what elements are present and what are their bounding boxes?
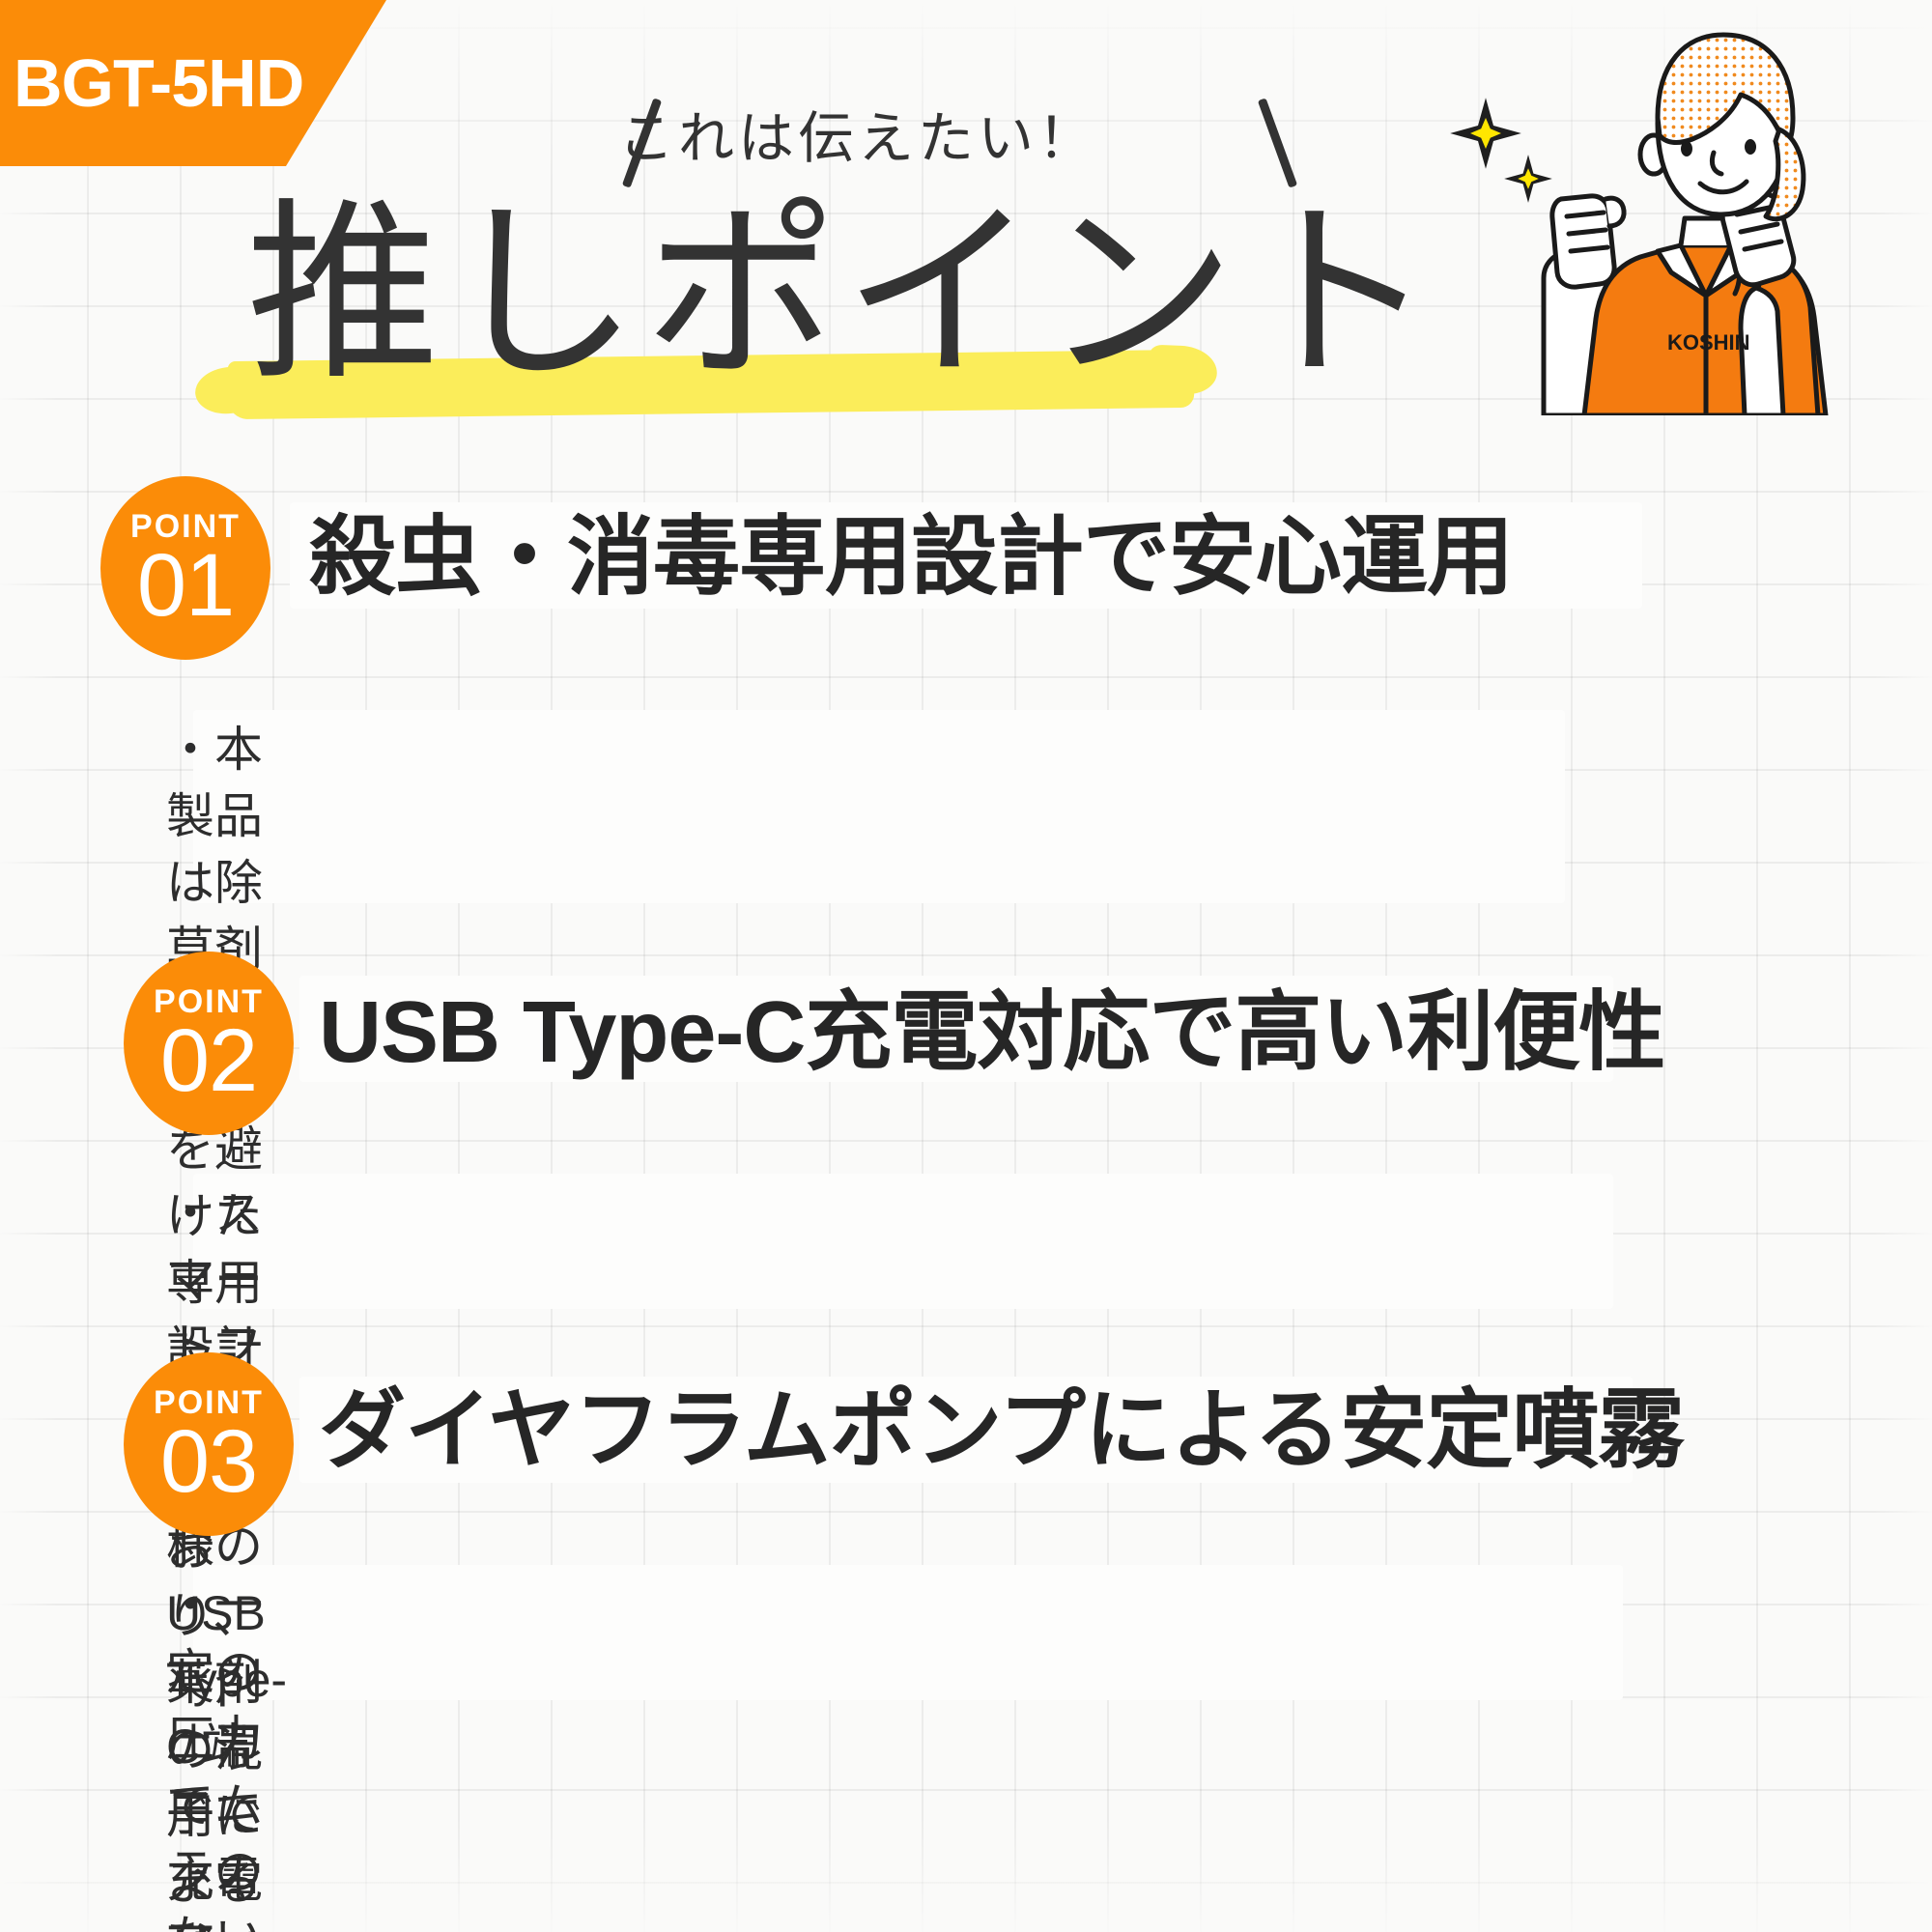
point-title-01: 殺虫・消毒専用設計で安心運用 — [309, 514, 1513, 601]
shirt-logo-text: KOSHIN — [1667, 330, 1750, 355]
product-code-tag-content: BGT-5HD — [0, 0, 386, 166]
header-kicker: これは伝えたい！ — [618, 93, 1097, 174]
illustration-koshin-staff: KOSHIN — [1478, 10, 1932, 415]
point-badge-01: POINT 01 — [100, 476, 270, 660]
point-title-02: USB Type-C充電対応で高い利便性 — [319, 989, 1664, 1076]
text-plate — [193, 710, 1565, 903]
point-badge-number: 02 — [160, 1020, 257, 1102]
text-plate — [193, 1565, 1623, 1700]
point-badge-number: 01 — [137, 545, 234, 627]
point-badge-02: POINT 02 — [124, 952, 294, 1135]
staff-woman-svg: KOSHIN — [1478, 10, 1932, 415]
poster-canvas: BGT-5HD これは伝えたい！ 推しポイント — [0, 0, 1932, 1932]
point-body-03: ・一定の圧力でムラのない噴霧が可能。薬剤の効果を均一に届けることで、 効率的な防… — [166, 1573, 263, 1932]
product-code-label: BGT-5HD — [0, 49, 303, 117]
point-badge-03: POINT 03 — [124, 1352, 294, 1536]
page-title: 推しポイント — [246, 198, 1440, 391]
point-title-03: ダイヤフラムポンプによる安定噴霧 — [319, 1387, 1684, 1474]
text-plate — [193, 1174, 1613, 1309]
point-badge-number: 03 — [160, 1421, 257, 1503]
